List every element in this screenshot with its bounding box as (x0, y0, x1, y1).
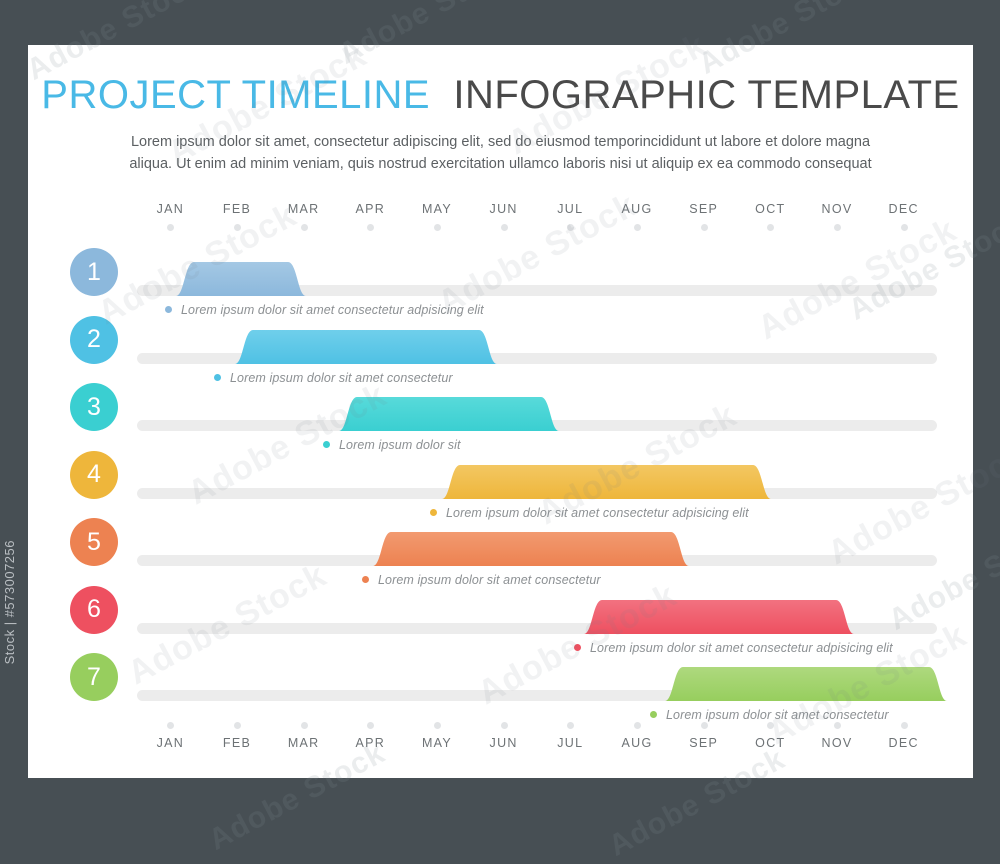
month-axis-top: JANFEBMARAPRMAYJUNJULAUGSEPOCTNOVDEC (137, 202, 937, 236)
month-dot-icon (634, 722, 641, 729)
month-dot-icon (167, 722, 174, 729)
month-axis-bottom: JANFEBMARAPRMAYJUNJULAUGSEPOCTNOVDEC (137, 722, 937, 756)
month-label: JUL (540, 736, 600, 750)
month-label: JAN (140, 736, 200, 750)
timeline-chart: JANFEBMARAPRMAYJUNJULAUGSEPOCTNOVDEC 1Lo… (28, 45, 973, 778)
month-dot-icon (434, 224, 441, 231)
month-dot-icon (767, 722, 774, 729)
step-number-badge-4[interactable]: 4 (70, 451, 118, 499)
month-dot-icon (301, 224, 308, 231)
month-dot-icon (434, 722, 441, 729)
step-number-badge-6[interactable]: 6 (70, 586, 118, 634)
month-label: FEB (207, 736, 267, 750)
bullet-dot-icon (362, 576, 369, 583)
month-label: AUG (607, 736, 667, 750)
step-number-badge-3[interactable]: 3 (70, 383, 118, 431)
month-dot-icon (901, 722, 908, 729)
timeline-row: 1Lorem ipsum dolor sit amet consectetur … (28, 248, 973, 315)
step-number-badge-1[interactable]: 1 (70, 248, 118, 296)
bullet-dot-icon (323, 441, 330, 448)
month-dot-icon (834, 722, 841, 729)
month-label: SEP (674, 202, 734, 216)
month-label: APR (340, 736, 400, 750)
month-label: NOV (807, 202, 867, 216)
timeline-bar-5[interactable] (373, 532, 689, 566)
step-number-badge-5[interactable]: 5 (70, 518, 118, 566)
timeline-row: 7Lorem ipsum dolor sit amet consectetur (28, 653, 973, 720)
month-dot-icon (234, 722, 241, 729)
month-dot-icon (767, 224, 774, 231)
timeline-row: 6Lorem ipsum dolor sit amet consectetur … (28, 586, 973, 653)
month-dot-icon (367, 224, 374, 231)
month-dot-icon (567, 224, 574, 231)
watermark-stock-id: Stock | #573007256 (2, 540, 17, 664)
month-dot-icon (901, 224, 908, 231)
month-label: OCT (740, 202, 800, 216)
bullet-dot-icon (650, 711, 657, 718)
month-label: JUN (474, 202, 534, 216)
month-dot-icon (167, 224, 174, 231)
month-dot-icon (367, 722, 374, 729)
timeline-row: 2Lorem ipsum dolor sit amet consectetur (28, 316, 973, 383)
timeline-row: 4Lorem ipsum dolor sit amet consectetur … (28, 451, 973, 518)
month-label: MAR (274, 736, 334, 750)
timeline-bar-2[interactable] (235, 330, 497, 364)
month-dot-icon (701, 722, 708, 729)
month-label: NOV (807, 736, 867, 750)
month-label: DEC (874, 736, 934, 750)
timeline-row: 3Lorem ipsum dolor sit (28, 383, 973, 450)
month-label: JUL (540, 202, 600, 216)
month-dot-icon (501, 224, 508, 231)
timeline-row: 5Lorem ipsum dolor sit amet consectetur (28, 518, 973, 585)
month-label: OCT (740, 736, 800, 750)
month-label: JUN (474, 736, 534, 750)
timeline-label-text: Lorem ipsum dolor sit amet consectetur (666, 708, 889, 722)
month-label: MAY (407, 736, 467, 750)
month-dot-icon (634, 224, 641, 231)
timeline-bar-3[interactable] (339, 397, 559, 431)
month-dot-icon (234, 224, 241, 231)
month-dot-icon (301, 722, 308, 729)
month-label: MAY (407, 202, 467, 216)
month-label: AUG (607, 202, 667, 216)
month-dot-icon (701, 224, 708, 231)
month-label: JAN (140, 202, 200, 216)
timeline-label: Lorem ipsum dolor sit amet consectetur (650, 708, 889, 722)
month-dot-icon (834, 224, 841, 231)
bullet-dot-icon (574, 644, 581, 651)
month-label: FEB (207, 202, 267, 216)
bullet-dot-icon (165, 306, 172, 313)
month-label: DEC (874, 202, 934, 216)
bullet-dot-icon (214, 374, 221, 381)
month-label: MAR (274, 202, 334, 216)
infographic-card: Adobe Stock Adobe Stock Adobe Stock Adob… (28, 45, 973, 778)
month-dot-icon (501, 722, 508, 729)
timeline-bar-7[interactable] (665, 667, 947, 701)
timeline-bar-1[interactable] (176, 262, 306, 296)
timeline-bar-4[interactable] (442, 465, 771, 499)
month-dot-icon (567, 722, 574, 729)
step-number-badge-2[interactable]: 2 (70, 316, 118, 364)
bullet-dot-icon (430, 509, 437, 516)
timeline-bar-6[interactable] (584, 600, 854, 634)
step-number-badge-7[interactable]: 7 (70, 653, 118, 701)
month-label: APR (340, 202, 400, 216)
month-label: SEP (674, 736, 734, 750)
